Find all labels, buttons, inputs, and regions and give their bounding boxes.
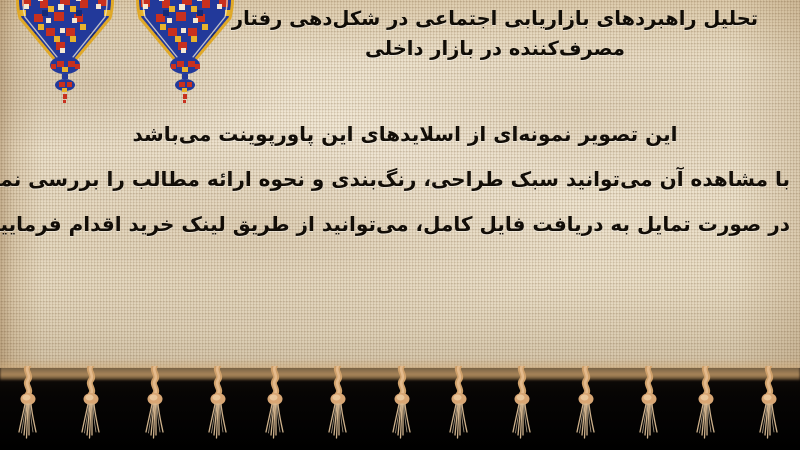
carpet-tassel: [693, 366, 719, 444]
carpet-tassel: [142, 366, 168, 444]
carpet-tassel: [262, 366, 288, 444]
carpet-tassel: [15, 366, 41, 444]
slide-body-line-3: در صورت تمایل به دریافت فایل کامل، می‌تو…: [20, 202, 790, 247]
slide-body-line-2: با مشاهده آن می‌توانید سبک طراحی، رنگ‌بن…: [20, 157, 790, 202]
carpet-tassel: [78, 366, 104, 444]
slide-title-line-1: تحلیل راهبردهای بازاریابی اجتماعی در شکل…: [232, 7, 758, 30]
carpet-tassel: [325, 366, 351, 444]
carpet-tassel: [573, 366, 599, 444]
slide-title-line-2: مصرف‌کننده در بازار داخلی: [365, 37, 625, 60]
slide-image: تحلیل راهبردهای بازاریابی اجتماعی در شکل…: [0, 0, 800, 450]
medallion-pendant-left-icon: [42, 54, 88, 104]
slide-body-text: این تصویر نمونه‌ای از اسلایدهای این پاور…: [20, 112, 790, 247]
carpet-tassel: [636, 366, 662, 444]
carpet-tassel: [205, 366, 231, 444]
slide-body-line-1: این تصویر نمونه‌ای از اسلایدهای این پاور…: [20, 112, 790, 157]
carpet-tassel: [509, 366, 535, 444]
carpet-tassel: [389, 366, 415, 444]
slide-title: تحلیل راهبردهای بازاریابی اجتماعی در شکل…: [200, 4, 790, 64]
carpet-tassel: [756, 366, 782, 444]
carpet-tassel: [446, 366, 472, 444]
